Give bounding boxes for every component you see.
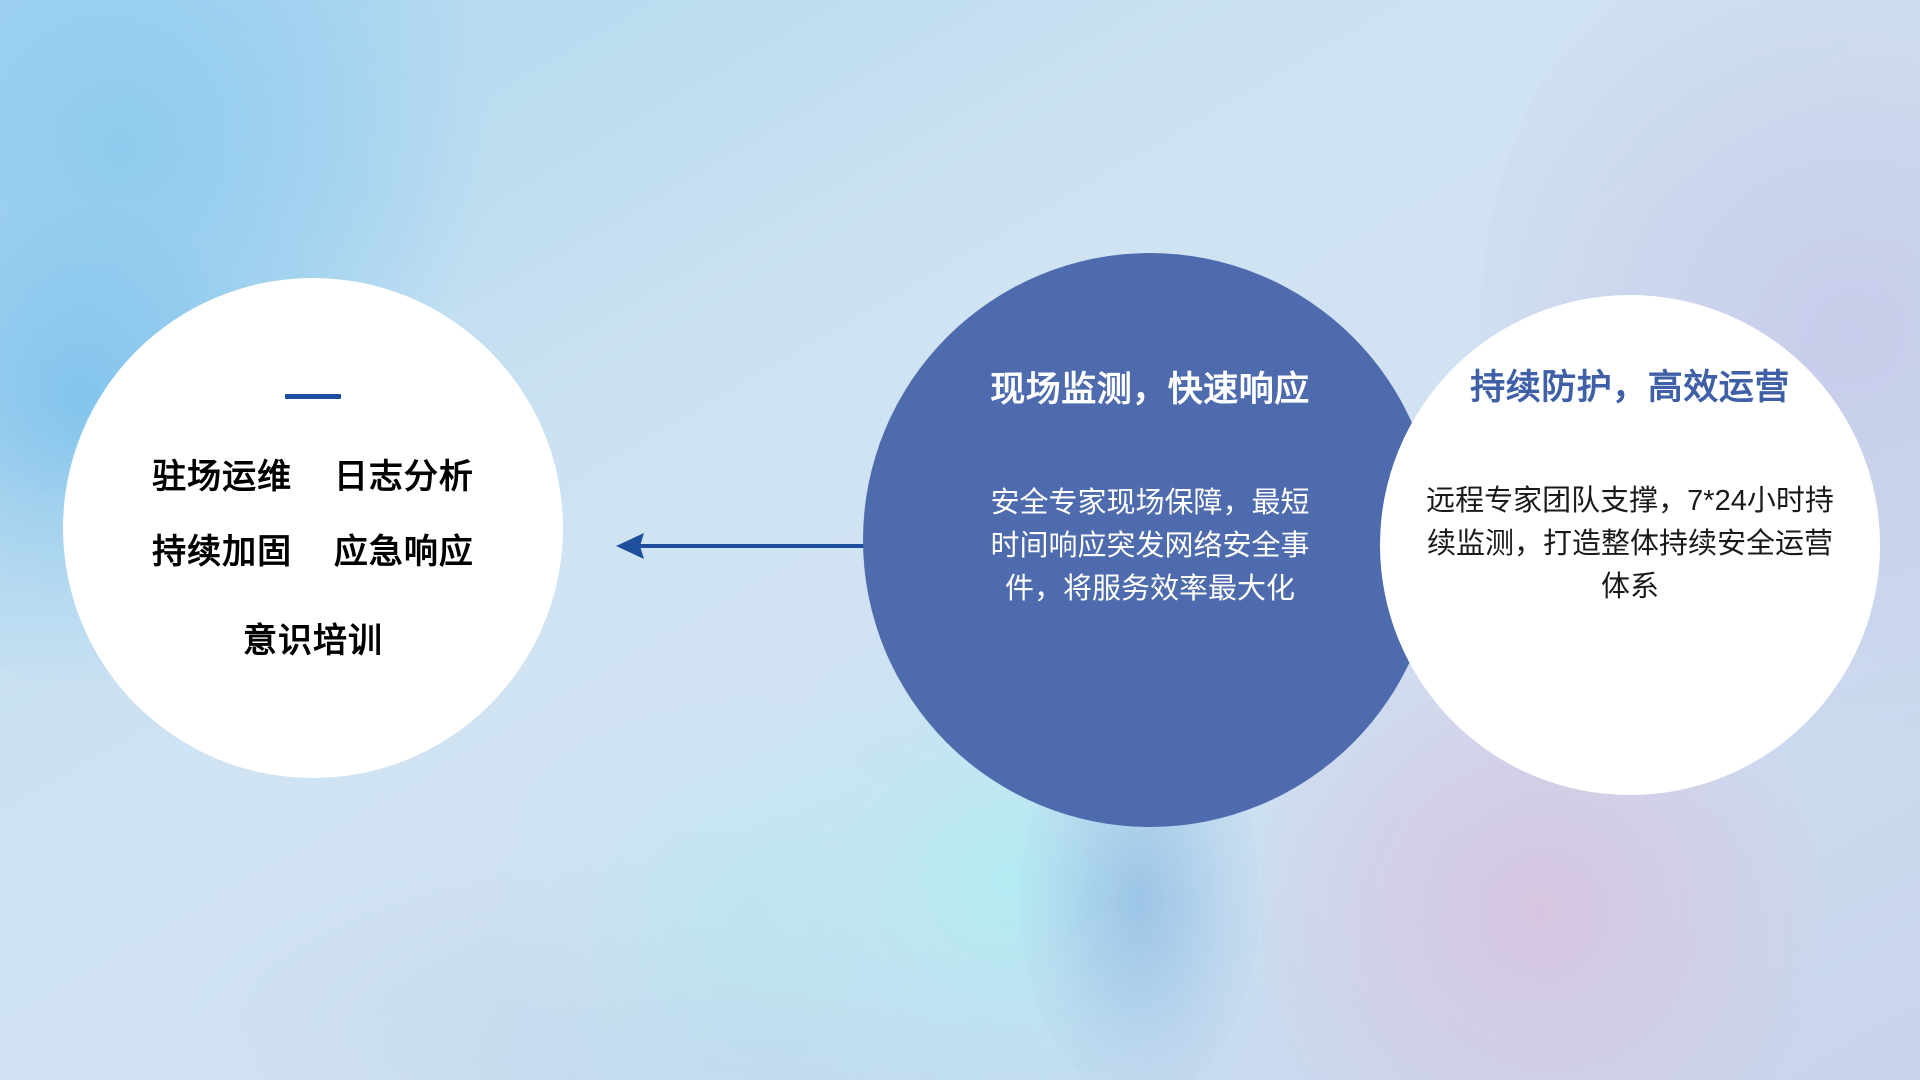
onsite-monitoring-title: 现场监测，快速响应 <box>990 361 1310 412</box>
background-glow-bottom <box>180 830 1380 1080</box>
capability-keyword-row-1: 驻场运维 日志分析 <box>152 449 474 498</box>
capability-circle-left[interactable]: 驻场运维 日志分析 持续加固 应急响应 意识培训 <box>63 278 563 778</box>
continuous-protection-body: 远程专家团队支撑，7*24小时持续监测，打造整体持续安全运营体系 <box>1420 480 1840 609</box>
continuous-protection-title: 持续防护，高效运营 <box>1470 359 1790 410</box>
background-glow-cyan-low <box>470 700 1030 1080</box>
feature-circle-onsite-monitoring[interactable]: 现场监测，快速响应 安全专家现场保障，最短时间响应突发网络安全事件，将服务效率最… <box>863 253 1437 827</box>
feature-circle-continuous-protection[interactable]: 持续防护，高效运营 远程专家团队支撑，7*24小时持续监测，打造整体持续安全运营… <box>1380 295 1880 795</box>
slide-canvas: 驻场运维 日志分析 持续加固 应急响应 意识培训 现场监测，快速响应 安全专家现… <box>0 0 1920 1080</box>
onsite-monitoring-body: 安全专家现场保障，最短时间响应突发网络安全事件，将服务效率最大化 <box>985 482 1315 611</box>
capability-keyword-list: 驻场运维 日志分析 持续加固 应急响应 意识培训 <box>152 449 474 662</box>
accent-rule-divider <box>285 394 341 399</box>
capability-keyword-row-2: 持续加固 应急响应 <box>152 524 474 573</box>
capability-keyword-row-3: 意识培训 <box>152 613 474 662</box>
